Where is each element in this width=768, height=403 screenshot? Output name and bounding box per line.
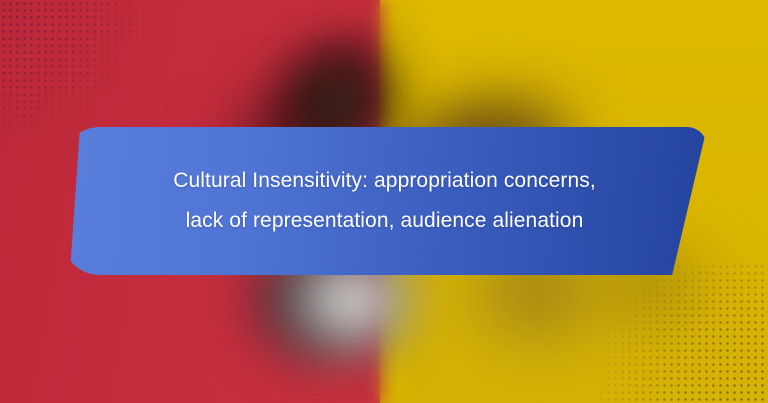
halftone-pattern-bottom-right xyxy=(598,263,768,403)
photo-blur-face xyxy=(318,86,364,128)
headline-card: Cultural Insensitivity: appropriation co… xyxy=(62,127,707,275)
banner-image: Cultural Insensitivity: appropriation co… xyxy=(0,0,768,403)
halftone-pattern-top-left xyxy=(0,0,160,130)
headline-text: Cultural Insensitivity: appropriation co… xyxy=(173,161,596,241)
